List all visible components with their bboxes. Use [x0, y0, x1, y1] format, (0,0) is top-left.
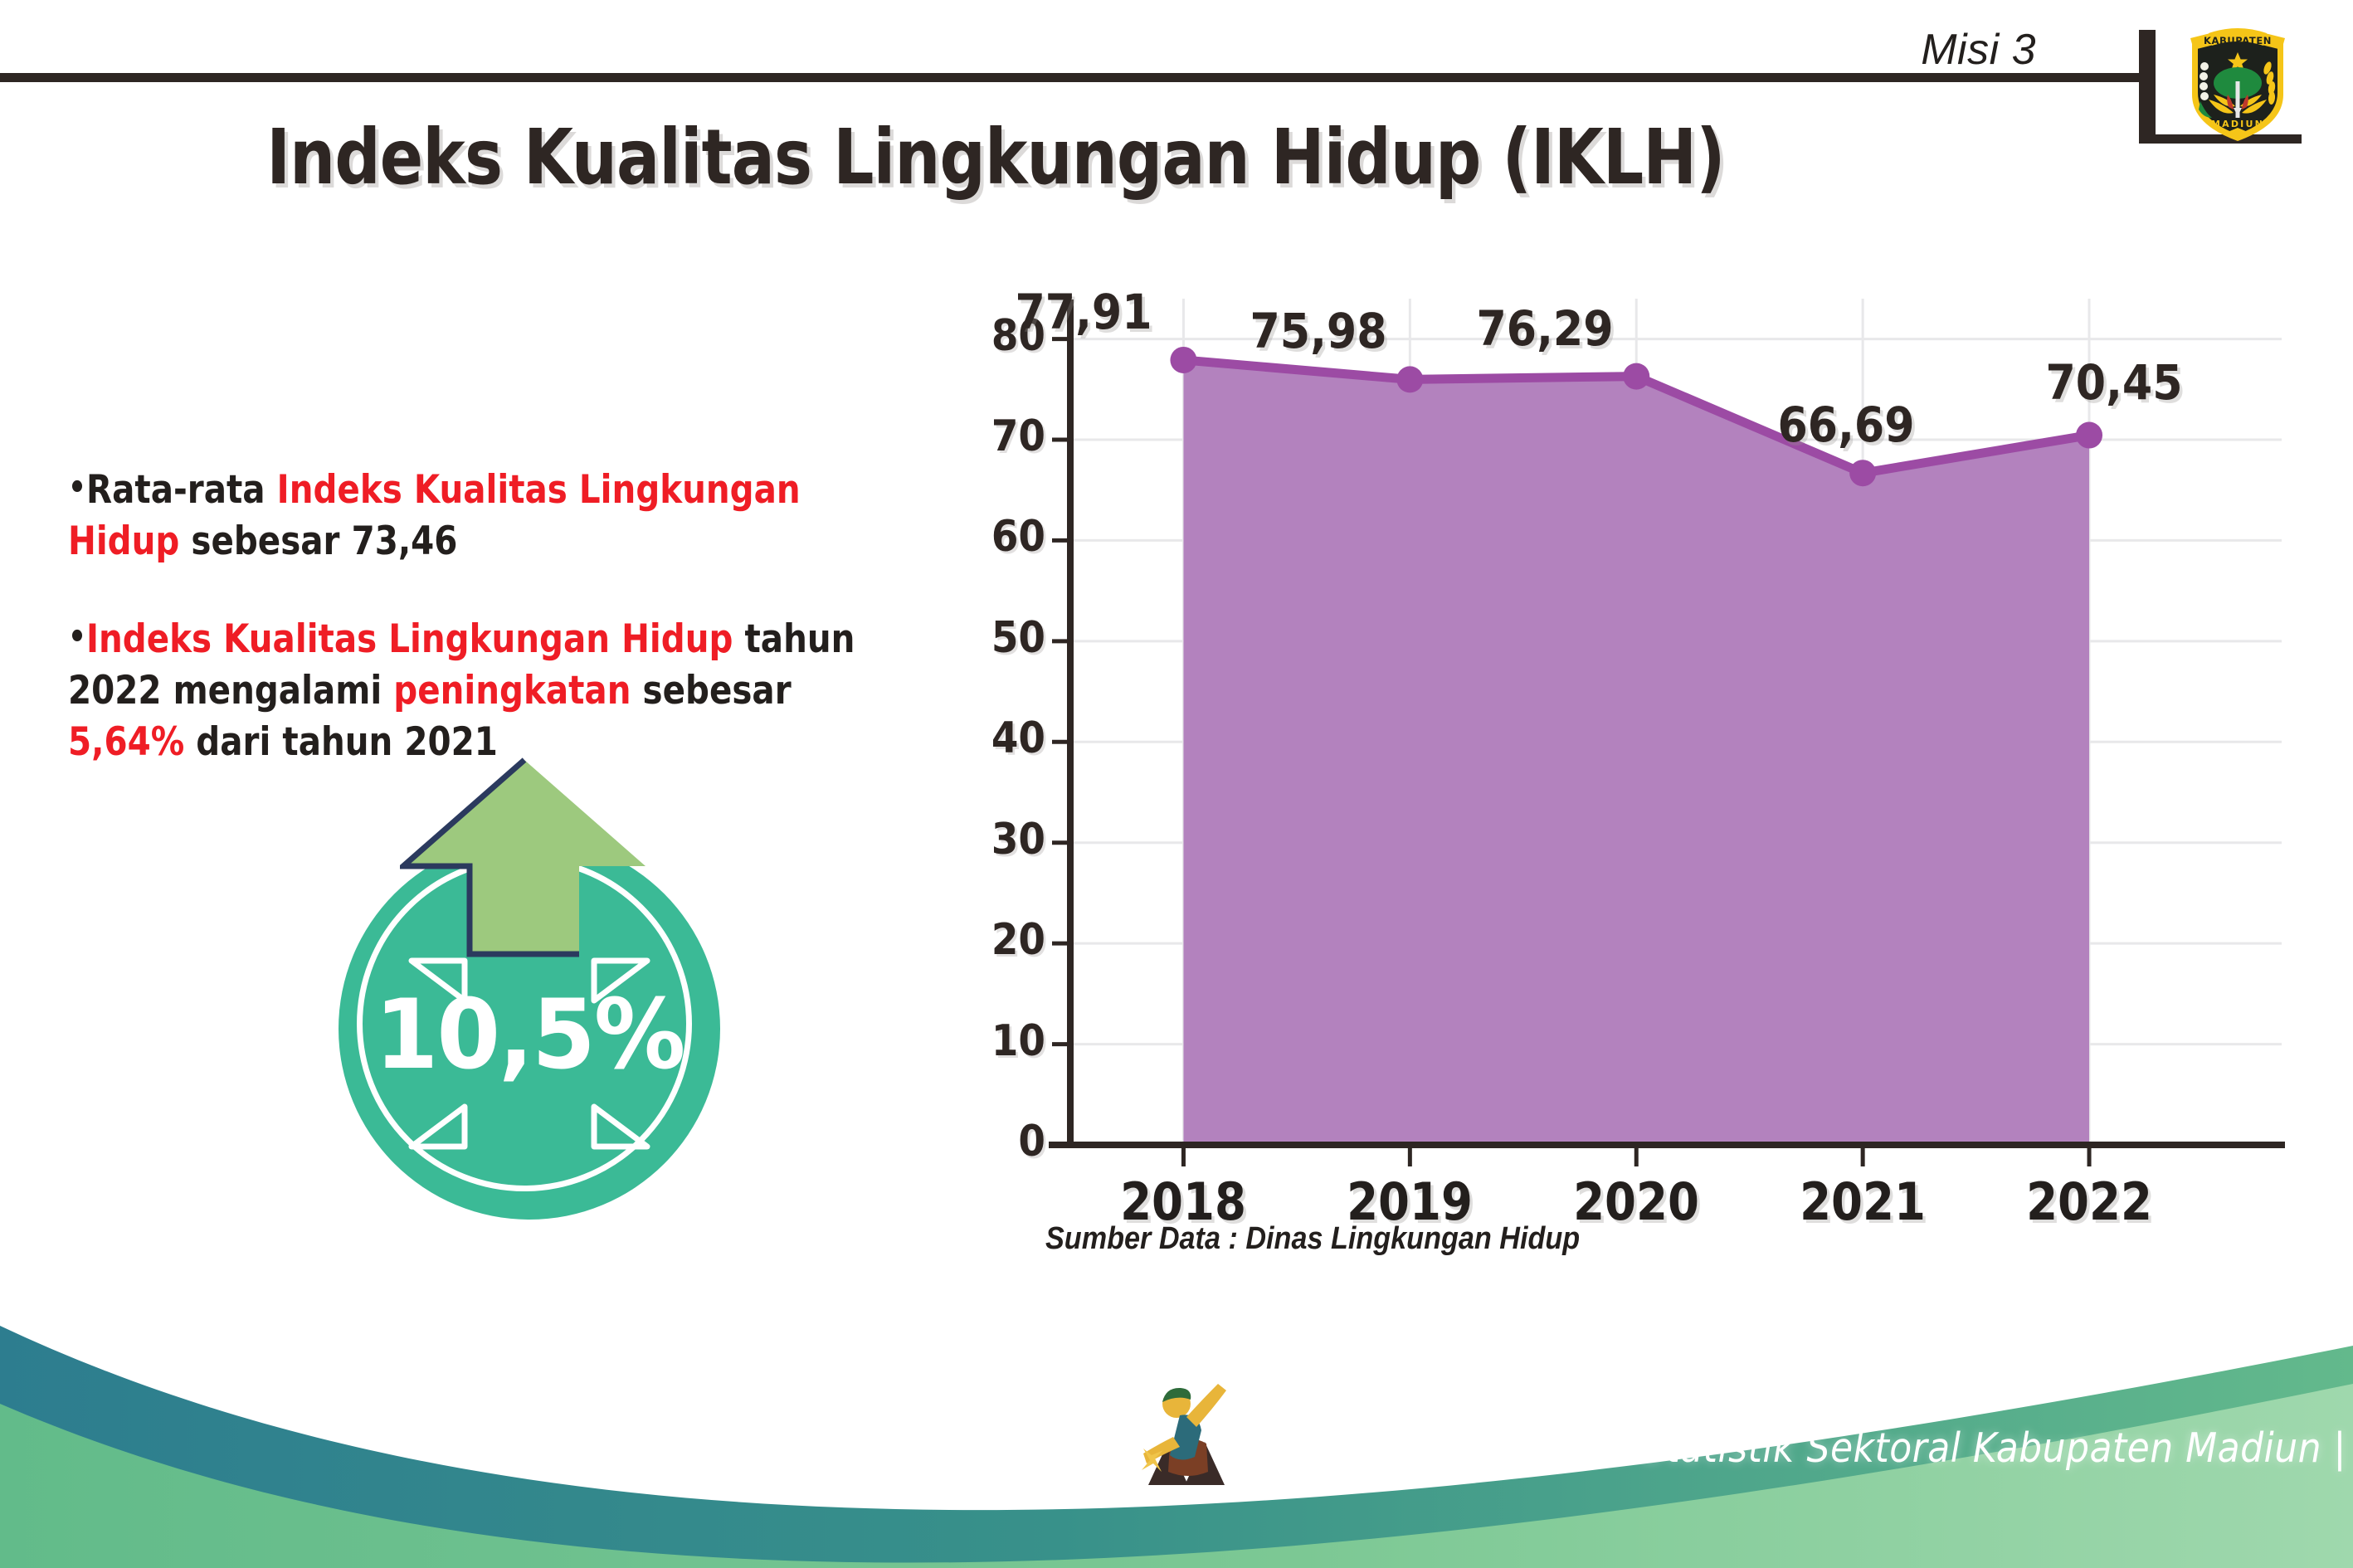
- footer-caption: Media Infografis Data Statistik Sektoral…: [1230, 1424, 2346, 1472]
- data-point-marker: [1396, 366, 1423, 392]
- x-axis-tick-label: 2022: [2005, 1171, 2173, 1232]
- bullet-segment: sebesar 73,46: [179, 519, 457, 564]
- list-item: •Rata-rata Indeks Kualitas Lingkungan Hi…: [68, 465, 867, 567]
- svg-text:KABUPATEN: KABUPATEN: [2204, 35, 2272, 46]
- data-point-label: 66,69: [1761, 397, 1932, 453]
- chart-canvas: [979, 282, 2307, 1294]
- data-point-marker: [2076, 422, 2102, 449]
- data-point-label: 77,91: [998, 284, 1170, 340]
- data-point-marker: [1170, 347, 1196, 373]
- data-point-label: 70,45: [2029, 354, 2200, 411]
- badge-percentage: 10,5%: [348, 979, 711, 1091]
- bullet-segment: peningkatan: [393, 668, 631, 713]
- bullet-segment: Rata-rata: [86, 467, 277, 513]
- y-axis-tick-label: 10: [956, 1016, 1045, 1066]
- data-point-label: 75,98: [1233, 303, 1405, 359]
- x-axis-tick-label: 2021: [1779, 1171, 1946, 1232]
- iklh-area-chart: 01020304050607080 20182019202020212022 7…: [979, 282, 2307, 1294]
- up-arrow-icon: [400, 757, 649, 964]
- page-title: Indeks Kualitas Lingkungan Hidup (IKLH): [159, 113, 1832, 202]
- kabupaten-madiun-emblem-icon: KABUPATEN: [2180, 18, 2295, 144]
- infographic-slide: Misi 3 KABUPATEN: [0, 0, 2353, 1568]
- y-axis-tick-label: 0: [956, 1117, 1045, 1166]
- data-point-marker: [1849, 460, 1876, 486]
- y-axis-tick-label: 60: [956, 512, 1045, 562]
- header-divider-line: [0, 73, 2149, 82]
- data-point-label: 76,29: [1459, 300, 1631, 357]
- data-point-marker: [1623, 363, 1649, 390]
- header-corner-bracket-vertical: [2139, 30, 2156, 143]
- chart-area-fill: [1183, 360, 2089, 1145]
- misi-label: Misi 3: [1921, 25, 2036, 75]
- bullet-text-1: Indeks Kualitas Lingkungan Hidup tahun 2…: [68, 616, 855, 765]
- increase-badge: 10,5%: [324, 757, 755, 1205]
- y-axis-tick-label: 40: [956, 713, 1045, 763]
- y-axis-tick-label: 20: [956, 915, 1045, 965]
- bullet-segment: sebesar: [631, 668, 791, 713]
- list-item: •Indeks Kualitas Lingkungan Hidup tahun …: [68, 614, 867, 768]
- bullet-text-0: Rata-rata Indeks Kualitas Lingkungan Hid…: [68, 467, 801, 564]
- bullet-segment: Indeks Kualitas Lingkungan Hidup: [86, 616, 733, 662]
- y-axis-tick-label: 30: [956, 815, 1045, 864]
- y-axis-tick-label: 70: [956, 411, 1045, 461]
- media-infografis-logo-icon: [1140, 1377, 1233, 1493]
- y-axis-tick-label: 50: [956, 613, 1045, 663]
- bullet-segment: 5,64%: [68, 719, 184, 765]
- source-note: Sumber Data : Dinas Lingkungan Hidup: [1045, 1221, 1580, 1257]
